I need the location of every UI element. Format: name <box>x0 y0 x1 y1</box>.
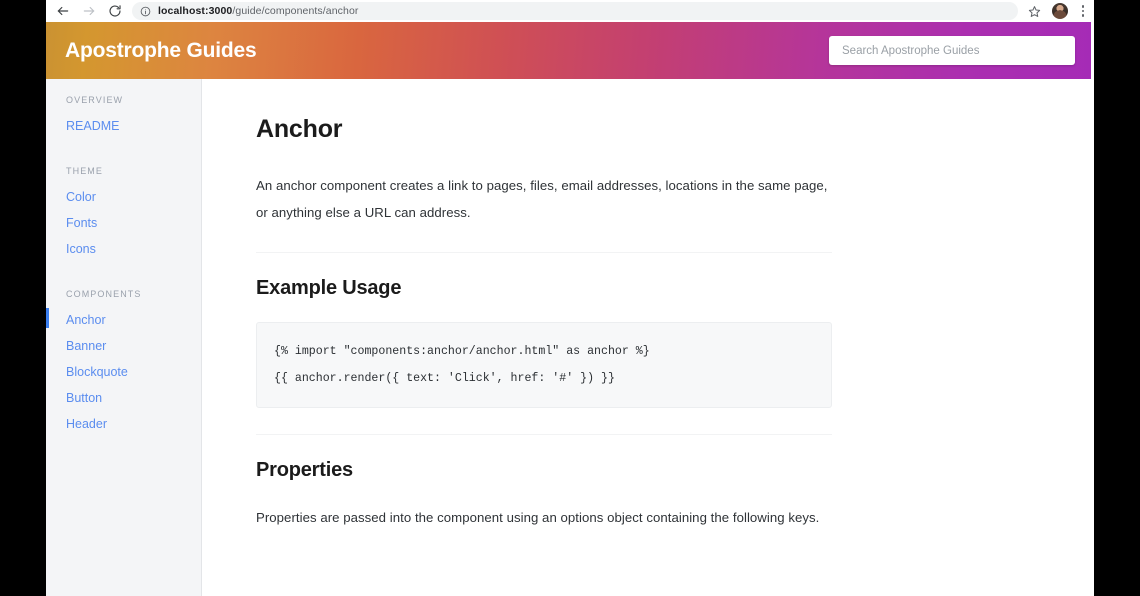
arrow-left-icon <box>56 4 70 18</box>
properties-paragraph: Properties are passed into the component… <box>256 504 832 531</box>
search-input[interactable] <box>840 44 1064 58</box>
url-host: localhost:3000 <box>158 5 232 17</box>
kebab-menu-icon[interactable] <box>1074 0 1092 22</box>
sidebar-item-anchor[interactable]: Anchor <box>46 307 201 333</box>
sidebar-item-fonts[interactable]: Fonts <box>46 210 201 236</box>
search-box[interactable] <box>829 36 1075 65</box>
address-bar[interactable]: localhost:3000/guide/components/anchor <box>132 2 1018 20</box>
main-content: Anchor An anchor component creates a lin… <box>202 79 1094 596</box>
letterbox-right <box>1094 0 1140 596</box>
sidebar-section-label-components: COMPONENTS <box>46 289 201 299</box>
arrow-right-icon <box>82 4 96 18</box>
browser-viewport: localhost:3000/guide/components/anchor A… <box>46 0 1094 596</box>
site-header: Apostrophe Guides <box>46 22 1091 79</box>
code-line-2: {{ anchor.render({ text: 'Click', href: … <box>274 365 814 392</box>
star-icon[interactable] <box>1022 0 1046 22</box>
sidebar-item-color[interactable]: Color <box>46 184 201 210</box>
code-block: {% import "components:anchor/anchor.html… <box>256 322 832 408</box>
page-title: Anchor <box>256 115 832 144</box>
site-title: Apostrophe Guides <box>65 39 256 63</box>
divider-above-example <box>256 252 832 253</box>
sidebar-item-readme[interactable]: README <box>46 113 201 139</box>
sidebar-item-header[interactable]: Header <box>46 411 201 437</box>
back-button[interactable] <box>50 0 76 22</box>
sidebar-section-theme: THEME Color Fonts Icons <box>46 166 201 262</box>
screen: localhost:3000/guide/components/anchor A… <box>0 0 1140 596</box>
content-wrapper: Anchor An anchor component creates a lin… <box>256 115 832 531</box>
url-text: localhost:3000/guide/components/anchor <box>158 5 359 17</box>
example-usage-heading: Example Usage <box>256 277 832 300</box>
sidebar-section-label-overview: OVERVIEW <box>46 95 201 105</box>
sidebar-item-icons[interactable]: Icons <box>46 236 201 262</box>
avatar[interactable] <box>1052 3 1068 19</box>
sidebar-item-button[interactable]: Button <box>46 385 201 411</box>
info-circle-icon[interactable] <box>140 6 151 17</box>
toolbar-right-group <box>1022 0 1094 22</box>
intro-paragraph: An anchor component creates a link to pa… <box>256 172 832 226</box>
browser-toolbar: localhost:3000/guide/components/anchor <box>46 0 1094 22</box>
forward-button[interactable] <box>76 0 102 22</box>
sidebar-section-components: COMPONENTS Anchor Banner Blockquote Butt… <box>46 289 201 437</box>
sidebar-section-label-theme: THEME <box>46 166 201 176</box>
properties-heading: Properties <box>256 459 832 482</box>
page-body: OVERVIEW README THEME Color Fonts Icons … <box>46 79 1094 596</box>
sidebar: OVERVIEW README THEME Color Fonts Icons … <box>46 79 202 596</box>
url-path: /guide/components/anchor <box>232 5 358 17</box>
reload-icon <box>108 4 122 18</box>
divider-above-properties <box>256 434 832 435</box>
code-line-1: {% import "components:anchor/anchor.html… <box>274 338 814 365</box>
sidebar-item-blockquote[interactable]: Blockquote <box>46 359 201 385</box>
letterbox-left <box>0 0 46 596</box>
reload-button[interactable] <box>102 0 128 22</box>
sidebar-section-overview: OVERVIEW README <box>46 95 201 139</box>
sidebar-item-banner[interactable]: Banner <box>46 333 201 359</box>
